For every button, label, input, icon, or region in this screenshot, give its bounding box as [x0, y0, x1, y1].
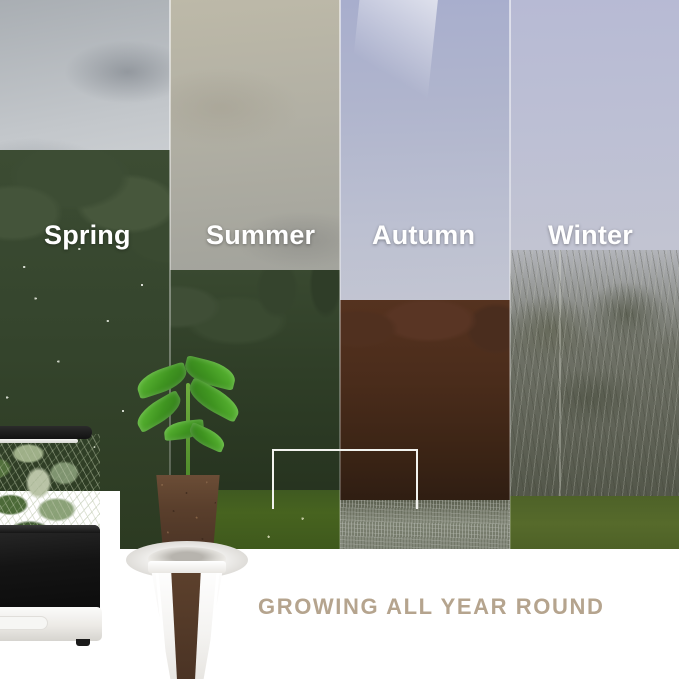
- season-panel-winter: [510, 0, 679, 600]
- grow-light-arm: [0, 426, 92, 439]
- leaf-icon: [134, 362, 191, 400]
- season-label-summer: Summer: [206, 220, 315, 251]
- garden-black-body: [0, 525, 100, 613]
- season-label-autumn: Autumn: [372, 220, 475, 251]
- tagline-text: GROWING ALL YEAR ROUND: [258, 594, 604, 620]
- product-marketing-image: Spring Summer Autumn Winter: [0, 0, 679, 679]
- leaf-icon: [186, 422, 228, 453]
- garden-white-base: [0, 607, 102, 641]
- garden-control-panel[interactable]: [0, 616, 48, 630]
- winter-bare-trees: [510, 250, 679, 520]
- hydroponic-garden-unit: [0, 426, 108, 641]
- seed-pod-assembly: [126, 355, 248, 679]
- football-goal-post: [272, 449, 418, 509]
- garden-foot: [76, 639, 90, 646]
- season-panel-autumn: [340, 0, 510, 600]
- season-label-spring: Spring: [44, 220, 131, 251]
- pepper-seedling: [130, 355, 248, 485]
- season-label-winter: Winter: [548, 220, 633, 251]
- grow-basket-collar: [148, 561, 226, 573]
